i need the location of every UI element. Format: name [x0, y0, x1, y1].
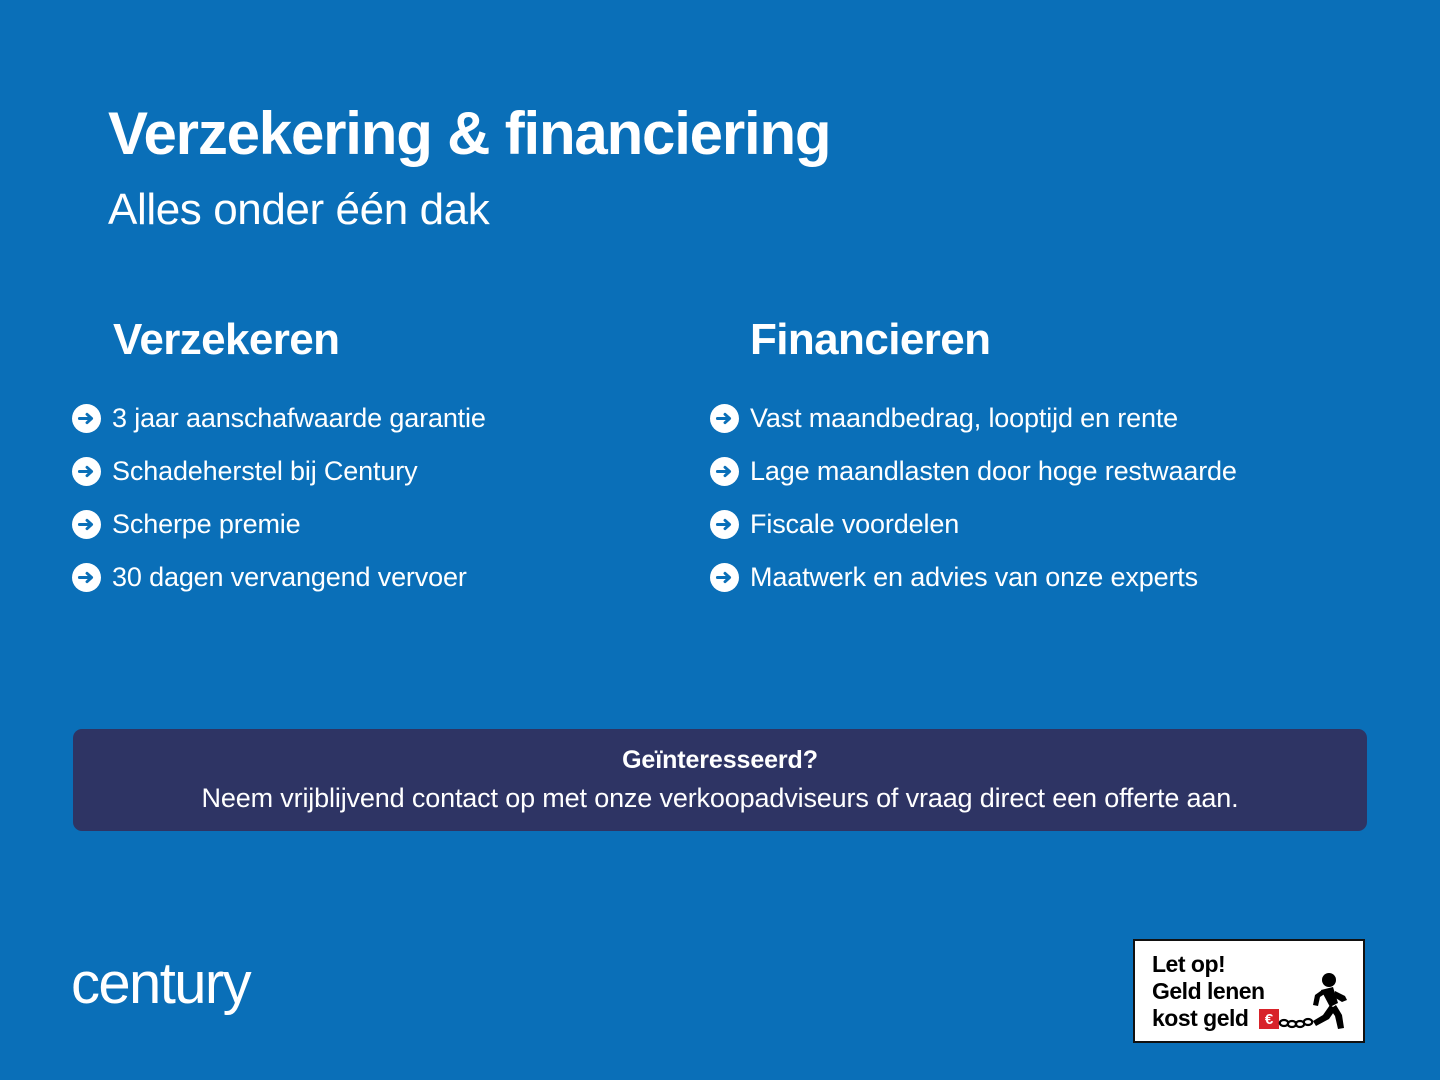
warning-text-block: Let op! Geld lenen kost geld [1152, 951, 1265, 1032]
list-item-label: Scherpe premie [112, 511, 301, 538]
list-item: Scherpe premie [72, 498, 702, 551]
list-item: Vast maandbedrag, looptijd en rente [710, 392, 1440, 445]
brand-logo: century [71, 955, 250, 1013]
cta-banner: Geïnteresseerd? Neem vrijblijvend contac… [73, 729, 1367, 831]
feature-list-financieren: Vast maandbedrag, looptijd en rente Lage… [710, 392, 1440, 604]
arrow-right-circle-icon [710, 404, 739, 433]
warning-line-2: Geld lenen [1152, 978, 1265, 1005]
cta-text: Neem vrijblijvend contact op met onze ve… [201, 785, 1238, 812]
page-title: Verzekering & financiering [108, 104, 830, 164]
column-verzekeren: Verzekeren 3 jaar aanschafwaarde garanti… [0, 318, 702, 604]
credit-warning-box: Let op! Geld lenen kost geld € [1133, 939, 1365, 1043]
arrow-right-circle-icon [72, 510, 101, 539]
arrow-right-circle-icon [72, 457, 101, 486]
arrow-right-circle-icon [710, 510, 739, 539]
list-item-label: Vast maandbedrag, looptijd en rente [750, 405, 1178, 432]
warning-line-1: Let op! [1152, 951, 1265, 978]
feature-list-verzekeren: 3 jaar aanschafwaarde garantie Schadeher… [72, 392, 702, 604]
svg-text:€: € [1265, 1011, 1274, 1028]
feature-columns: Verzekeren 3 jaar aanschafwaarde garanti… [0, 318, 1440, 604]
list-item-label: Lage maandlasten door hoge restwaarde [750, 458, 1237, 485]
warning-line-3: kost geld [1152, 1005, 1265, 1032]
list-item: 3 jaar aanschafwaarde garantie [72, 392, 702, 445]
list-item-label: Schadeherstel bij Century [112, 458, 417, 485]
list-item: Maatwerk en advies van onze experts [710, 551, 1440, 604]
column-heading-verzekeren: Verzekeren [72, 318, 702, 362]
list-item-label: Fiscale voordelen [750, 511, 959, 538]
arrow-right-circle-icon [72, 563, 101, 592]
page-subtitle: Alles onder één dak [108, 188, 830, 232]
slide-header: Verzekering & financiering Alles onder é… [108, 104, 830, 232]
list-item-label: 3 jaar aanschafwaarde garantie [112, 405, 486, 432]
list-item: 30 dagen vervangend vervoer [72, 551, 702, 604]
arrow-right-circle-icon [710, 457, 739, 486]
arrow-right-circle-icon [710, 563, 739, 592]
arrow-right-circle-icon [72, 404, 101, 433]
list-item: Lage maandlasten door hoge restwaarde [710, 445, 1440, 498]
walking-person-with-chain-icon: € [1257, 971, 1357, 1037]
list-item: Schadeherstel bij Century [72, 445, 702, 498]
column-financieren: Financieren Vast maandbedrag, looptijd e… [702, 318, 1440, 604]
list-item: Fiscale voordelen [710, 498, 1440, 551]
column-heading-financieren: Financieren [710, 318, 1440, 362]
list-item-label: Maatwerk en advies van onze experts [750, 564, 1198, 591]
cta-title: Geïnteresseerd? [622, 748, 818, 773]
list-item-label: 30 dagen vervangend vervoer [112, 564, 467, 591]
